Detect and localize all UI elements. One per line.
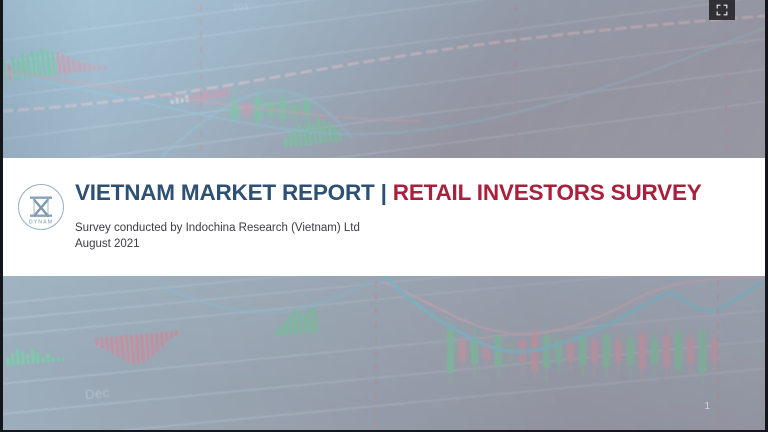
slide-headline: VIETNAM MARKET REPORT | RETAIL INVESTORS… <box>75 182 702 205</box>
headline-primary: VIETNAM MARKET REPORT <box>75 180 375 205</box>
top-background-chart-image: 12 201 <box>3 0 765 158</box>
page-number: 1 <box>704 401 710 412</box>
title-band <box>3 158 765 276</box>
bottom-vertical-marker-right <box>717 276 719 432</box>
headline-separator: | <box>375 180 393 205</box>
bottom-background-chart-image: Dec <box>3 276 765 432</box>
presentation-slide: 12 201 <box>0 0 768 432</box>
fullscreen-expand-icon <box>716 4 728 16</box>
hourglass-monogram-icon <box>30 197 52 217</box>
dynam-logo: DYNAM <box>17 183 65 231</box>
headline-secondary: RETAIL INVESTORS SURVEY <box>393 180 702 205</box>
slide-subtitle: Survey conducted by Indochina Research (… <box>75 220 360 252</box>
logo-wordmark: DYNAM <box>29 220 53 226</box>
subtitle-line-2: August 2021 <box>75 236 360 252</box>
top-image-edge-shading <box>3 0 765 158</box>
fullscreen-button[interactable] <box>709 0 735 20</box>
bottom-vertical-marker <box>375 276 377 432</box>
bottom-image-label-dec: Dec <box>84 385 110 402</box>
bottom-moving-average-lines <box>3 276 765 431</box>
subtitle-line-1: Survey conducted by Indochina Research (… <box>75 220 360 236</box>
